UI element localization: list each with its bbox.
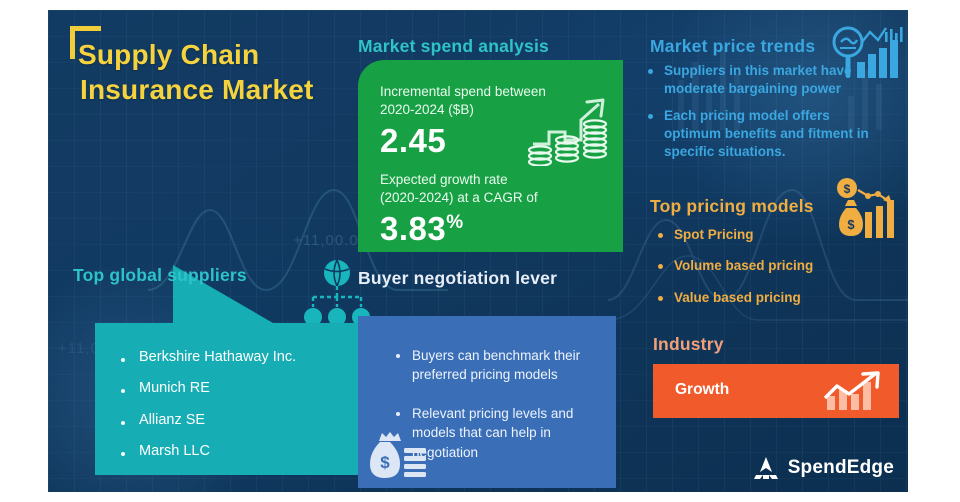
title-line-2: Insurance Market	[80, 73, 314, 108]
growth-rate-label-line1: Expected growth rate	[380, 170, 508, 189]
buyer-negotiation-panel: Buyers can benchmark their preferred pri…	[358, 316, 616, 488]
pricing-model-2: Volume based pricing	[674, 257, 813, 275]
cagr-value-wrap: 3.83%	[380, 210, 464, 248]
bullet-dot-icon	[121, 358, 125, 362]
svg-text:$: $	[380, 453, 390, 472]
market-price-trends-list: Suppliers in this market have moderate b…	[648, 62, 886, 170]
incremental-spend-label-line1: Incremental spend between	[380, 82, 546, 101]
top-pricing-models-list: Spot Pricing Volume based pricing Value …	[658, 226, 898, 320]
bullet-dot-icon	[396, 354, 400, 358]
market-price-trends-bullet-1: Suppliers in this market have moderate b…	[664, 62, 886, 99]
market-spend-heading: Market spend analysis	[358, 36, 549, 57]
corner-bracket-icon	[70, 26, 101, 59]
list-item: Each pricing model offers optimum benefi…	[648, 107, 886, 162]
page-title: Supply Chain Insurance Market	[78, 38, 314, 107]
pricing-model-1: Spot Pricing	[674, 226, 754, 244]
bullet-dot-icon	[658, 233, 663, 238]
industry-status-badge: Growth	[653, 364, 899, 418]
supplier-2: Munich RE	[139, 380, 210, 397]
incremental-spend-value: 2.45	[380, 122, 446, 160]
top-pricing-models-heading: Top pricing models	[650, 196, 814, 217]
industry-section: Industry Growth	[653, 334, 903, 434]
title-line-1: Supply Chain	[78, 38, 314, 73]
buyer-bullet-2: Relevant pricing levels and models that …	[412, 404, 596, 461]
bullet-dot-icon	[658, 264, 663, 269]
moneybag-icon: $	[366, 426, 430, 482]
bullet-dot-icon	[396, 412, 400, 416]
list-item: Spot Pricing	[658, 226, 898, 244]
list-item: Marsh LLC	[121, 443, 370, 460]
market-price-trends-bullet-2: Each pricing model offers optimum benefi…	[664, 107, 886, 162]
bullet-dot-icon	[658, 296, 663, 301]
list-item: Berkshire Hathaway Inc.	[121, 349, 370, 366]
industry-heading: Industry	[653, 334, 724, 355]
supplier-3: Allianz SE	[139, 412, 205, 429]
list-item: Buyers can benchmark their preferred pri…	[396, 346, 596, 384]
buyer-bullet-1: Buyers can benchmark their preferred pri…	[412, 346, 596, 384]
list-item: Value based pricing	[658, 289, 898, 307]
svg-text:$: $	[844, 182, 851, 196]
spendedge-mark-icon	[753, 456, 779, 480]
background-ghost-number: +11,00.00	[293, 232, 368, 249]
infographic-board: +11,00.00 +11,00.00 Supply Chain Insuran…	[48, 10, 908, 492]
supplier-4: Marsh LLC	[139, 443, 210, 460]
brand-name: SpendEdge	[788, 457, 894, 479]
list-item: Allianz SE	[121, 412, 370, 429]
market-spend-panel: Incremental spend between 2020-2024 ($B)…	[358, 60, 623, 252]
growth-arrow-chart-icon	[821, 370, 887, 414]
industry-status-label: Growth	[675, 381, 729, 399]
incremental-spend-label-line2: 2020-2024 ($B)	[380, 100, 474, 119]
list-item: Suppliers in this market have moderate b…	[648, 62, 886, 99]
supplier-1: Berkshire Hathaway Inc.	[139, 349, 296, 366]
bullet-dot-icon	[121, 452, 125, 456]
bullet-dot-icon	[648, 114, 653, 119]
pricing-model-3: Value based pricing	[674, 289, 801, 307]
top-global-suppliers-heading: Top global suppliers	[73, 265, 247, 286]
bullet-dot-icon	[121, 421, 125, 425]
brand-logo: SpendEdge	[753, 456, 894, 480]
list-item: Volume based pricing	[658, 257, 898, 275]
growth-rate-label-line2: (2020-2024) at a CAGR of	[380, 188, 538, 207]
buyer-negotiation-section: Buyer negotiation lever Buyers can bench…	[348, 268, 628, 483]
list-item: Munich RE	[121, 380, 370, 397]
infographic-canvas: +11,00.00 +11,00.00 Supply Chain Insuran…	[0, 0, 960, 502]
top-global-suppliers-section: Top global suppliers Berkshire Hathaway …	[73, 265, 363, 477]
bullet-dot-icon	[648, 69, 653, 74]
market-price-trends-heading: Market price trends	[650, 36, 815, 57]
buyer-negotiation-heading: Buyer negotiation lever	[358, 268, 557, 289]
top-global-suppliers-panel: Berkshire Hathaway Inc. Munich RE Allian…	[95, 323, 370, 475]
bullet-dot-icon	[121, 389, 125, 393]
cagr-value: 3.83	[380, 210, 446, 247]
cagr-percent-sign: %	[446, 212, 463, 233]
coins-growth-icon	[525, 94, 611, 166]
